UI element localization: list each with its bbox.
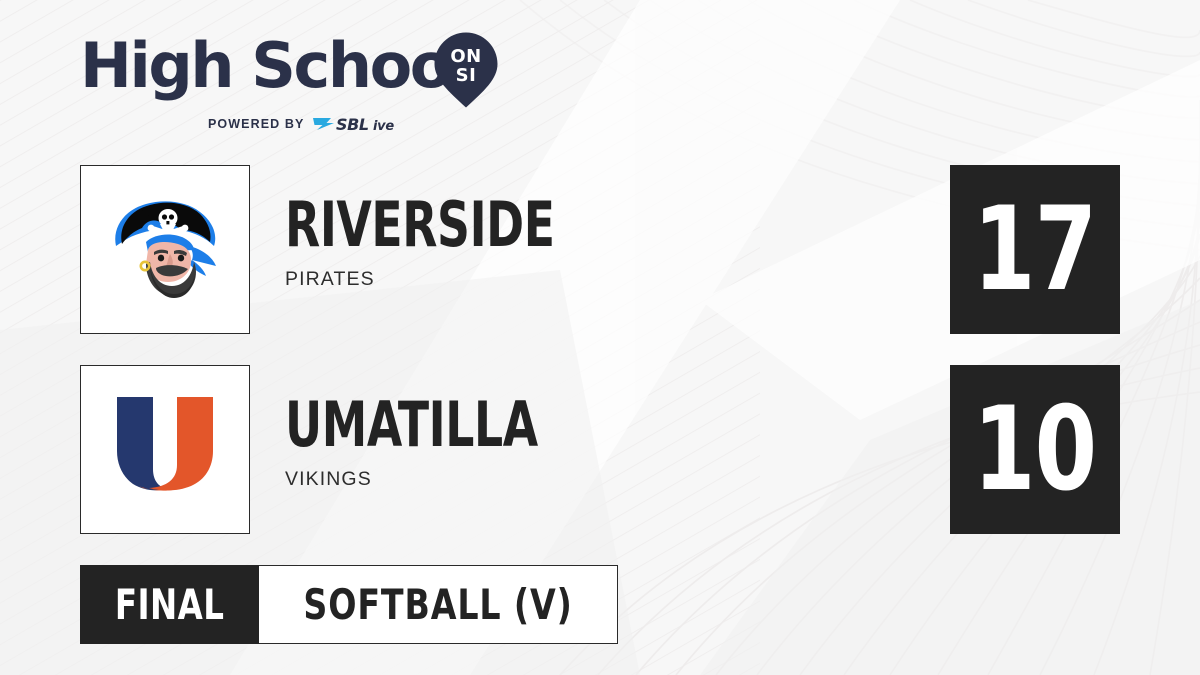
sblive-logo: SBL ive bbox=[311, 114, 411, 134]
team-score: 17 bbox=[973, 192, 1096, 308]
svg-text:SI: SI bbox=[456, 65, 477, 86]
team-logo-box-away bbox=[80, 365, 250, 534]
team-text-away: UMATILLA VIKINGS bbox=[285, 395, 593, 491]
team-mascot: VIKINGS bbox=[285, 468, 593, 491]
team-row-home: RIVERSIDE PIRATES 17 bbox=[0, 165, 1200, 335]
status-label: FINAL bbox=[115, 584, 224, 626]
team-name: RIVERSIDE bbox=[285, 195, 555, 255]
svg-text:ON: ON bbox=[450, 46, 481, 67]
status-badge: FINAL bbox=[80, 565, 259, 644]
svg-text:ive: ive bbox=[373, 119, 394, 134]
split-u-logo-icon bbox=[109, 391, 221, 509]
team-text-home: RIVERSIDE PIRATES bbox=[285, 195, 614, 291]
team-score-box-away: 10 bbox=[950, 365, 1120, 534]
on-si-pin-icon: ON SI bbox=[432, 31, 500, 109]
team-row-away: UMATILLA VIKINGS 10 bbox=[0, 365, 1200, 535]
team-mascot: PIRATES bbox=[285, 268, 614, 291]
powered-by-block: POWERED BY SBL ive bbox=[208, 114, 411, 134]
sport-badge: SOFTBALL (V) bbox=[259, 565, 618, 644]
team-name: UMATILLA bbox=[285, 395, 538, 455]
game-status-bar: FINAL SOFTBALL (V) bbox=[80, 565, 618, 644]
team-score-box-home: 17 bbox=[950, 165, 1120, 334]
brand-header: High School ON SI POWERED BY SBL ive bbox=[80, 34, 550, 134]
pirate-head-logo-icon bbox=[102, 190, 228, 310]
brand-wordmark: High School bbox=[80, 34, 469, 98]
team-logo-box-home bbox=[80, 165, 250, 334]
sport-label: SOFTBALL (V) bbox=[304, 584, 573, 626]
powered-by-label: POWERED BY bbox=[208, 117, 304, 131]
svg-text:SBL: SBL bbox=[336, 115, 369, 134]
team-score: 10 bbox=[973, 392, 1096, 508]
